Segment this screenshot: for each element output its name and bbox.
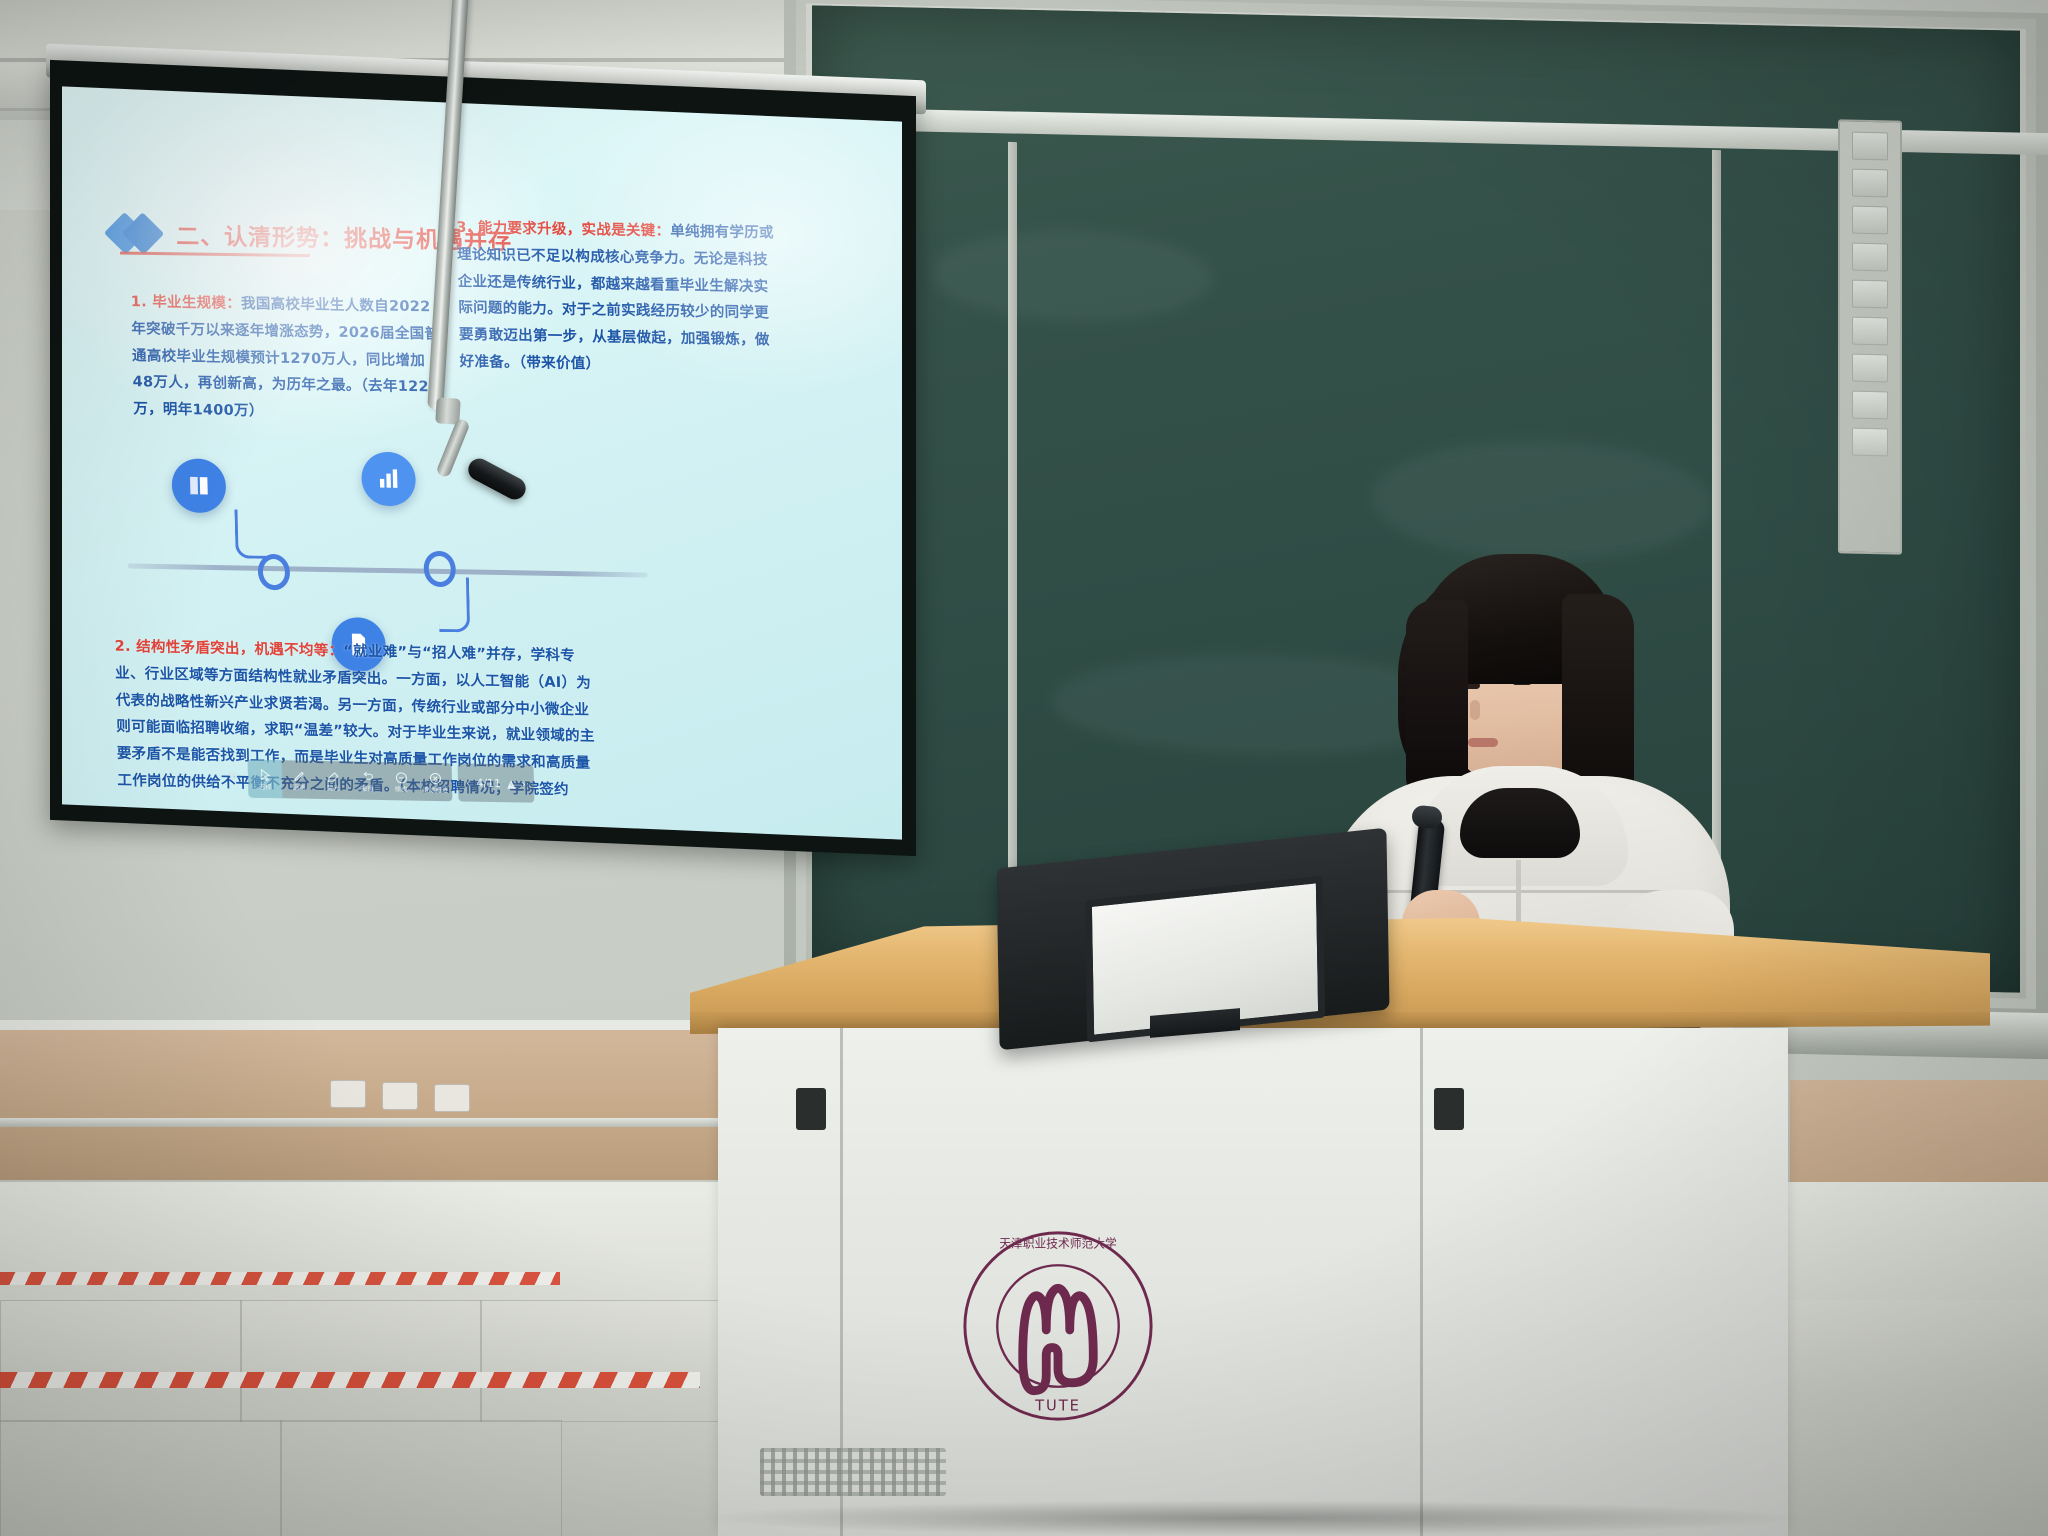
pointer-icon: [257, 768, 272, 783]
toolbar-caret-icon[interactable]: ▼: [228, 769, 237, 782]
wall-socket: [330, 1080, 366, 1108]
control-key[interactable]: [1852, 243, 1888, 272]
clear-icon: [427, 771, 442, 786]
podium-shadow: [690, 1500, 1810, 1536]
wall-socket: [434, 1084, 470, 1112]
floor-tile: [480, 1300, 722, 1422]
wall-socket: [382, 1082, 418, 1110]
podium-seam: [1420, 1028, 1423, 1536]
undo-icon: [359, 769, 374, 784]
wall-control-panel[interactable]: [1838, 119, 1902, 554]
timeline-axis: [128, 564, 648, 578]
highlighter-icon: [325, 769, 340, 784]
slide-point-3-body: 单纯拥有学历或理论知识已不足以构成核心竞争力。无论是科技企业还是传统行业，都越来…: [457, 224, 774, 373]
slide-point-1-label: 1. 毕业生规模：: [131, 294, 242, 312]
clear-ink-button[interactable]: 清除墨迹: [418, 763, 453, 802]
highlighter-tool-button[interactable]: 荧光: [316, 761, 351, 800]
pen-tool-label: 画笔: [293, 784, 306, 791]
control-key[interactable]: [1852, 169, 1888, 198]
slide-point-3-label: 3. 能力要求升级，实战是关键：: [456, 220, 670, 240]
timeline-connector: [438, 577, 470, 633]
podium-lock[interactable]: [796, 1088, 826, 1130]
floor-tile: [280, 1420, 562, 1536]
university-emblem: TUTE 天津职业技术师范大学: [960, 1228, 1156, 1424]
prev-slide-button[interactable]: ‹: [466, 776, 471, 789]
ppt-annotation-toolbar[interactable]: 选择 画笔 荧光 撤销: [248, 760, 535, 803]
undo-button[interactable]: 撤销: [350, 761, 385, 800]
podium-speaker-grille-cross: [760, 1448, 946, 1496]
timeline-bubble-book: [171, 458, 226, 513]
slide-point-1-body: 我国高校毕业生人数自2022年突破千万以来逐年增涨态势，2026届全国普通高校毕…: [131, 296, 439, 420]
slide-list-button[interactable]: ▲: [507, 777, 516, 790]
ppt-tool-group[interactable]: 选择 画笔 荧光 撤销: [248, 760, 453, 802]
mouth: [1468, 738, 1498, 747]
nose: [1470, 700, 1480, 720]
pointer-tool-button[interactable]: 选择: [248, 760, 283, 799]
highlighter-tool-label: 荧光: [327, 785, 340, 792]
wall-conduit: [0, 1118, 800, 1127]
control-key[interactable]: [1852, 280, 1888, 309]
control-key[interactable]: [1852, 206, 1888, 235]
timeline-bubble-chart: [361, 452, 416, 507]
inner-top: [1460, 788, 1580, 858]
eraser-label: 橡皮: [395, 786, 408, 793]
control-key[interactable]: [1852, 354, 1888, 383]
pen-tool-button[interactable]: 画笔: [282, 760, 317, 799]
slide-point-1: 1. 毕业生规模：我国高校毕业生人数自2022年突破千万以来逐年增涨态势，202…: [130, 289, 443, 429]
eraser-icon: [393, 770, 408, 785]
classroom-photo: 2001-6 二、认清形势：挑战与机遇并存: [0, 0, 2048, 1536]
pen-icon: [291, 768, 306, 783]
hazard-stripe-upper: [0, 1272, 560, 1285]
slide-point-3: 3. 能力要求升级，实战是关键：单纯拥有学历或理论知识已不足以构成核心竞争力。无…: [456, 215, 778, 382]
eraser-button[interactable]: 橡皮: [384, 762, 419, 801]
diamond-bullet-icon: [109, 212, 162, 255]
slide-page-indicator: 4/11: [476, 776, 501, 789]
control-key[interactable]: [1852, 132, 1888, 161]
svg-text:天津职业技术师范大学: 天津职业技术师范大学: [999, 1237, 1117, 1251]
control-key[interactable]: [1852, 391, 1888, 420]
undo-label: 撤销: [361, 785, 374, 792]
floor-tile: [0, 1300, 242, 1422]
timeline-connector: [234, 509, 266, 559]
control-key[interactable]: [1852, 317, 1888, 346]
timeline-node: [258, 554, 291, 591]
next-slide-button[interactable]: ›: [521, 777, 526, 790]
tute-logo-icon: TUTE 天津职业技术师范大学: [960, 1228, 1156, 1424]
pointer-tool-label: 选择: [259, 784, 272, 791]
svg-text:TUTE: TUTE: [1034, 1397, 1081, 1414]
book-icon: [186, 472, 213, 498]
slide-navigation[interactable]: ‹ 4/11 ▲ ›: [458, 763, 535, 802]
clear-ink-label: 清除墨迹: [422, 786, 448, 793]
slide-point-2-label: 2. 结构性矛盾突出，机遇不均等：: [114, 639, 343, 660]
chart-icon: [375, 466, 402, 492]
floor-tile: [240, 1300, 482, 1422]
hazard-stripe-lower: [0, 1372, 700, 1388]
control-key[interactable]: [1852, 428, 1888, 457]
floor-tile: [0, 1420, 282, 1536]
podium-lock[interactable]: [1434, 1088, 1464, 1130]
